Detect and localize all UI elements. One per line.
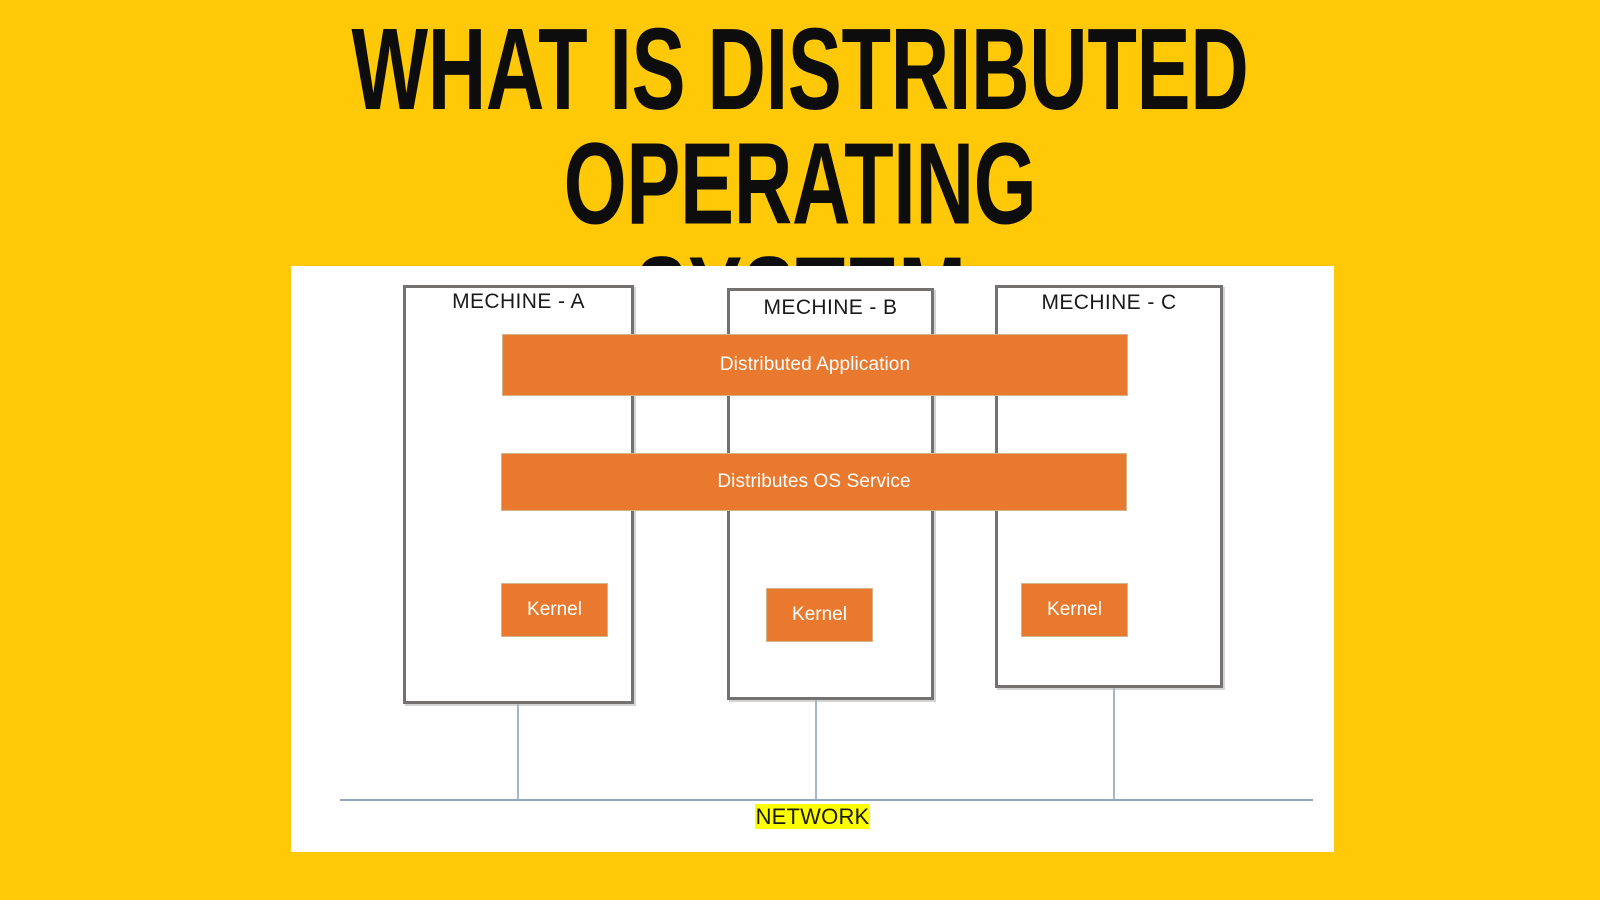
network-bus-line (340, 799, 1313, 801)
machine-label-a: MECHINE - A (403, 290, 634, 314)
layer-bar-distributed-application[interactable]: Distributed Application (502, 334, 1128, 396)
network-label: NETWORK (291, 804, 1334, 830)
network-connector-a (517, 704, 519, 800)
slide-root: What Is Distributed Operating System MEC… (0, 0, 1600, 900)
machine-label-c: MECHINE - C (995, 291, 1223, 315)
network-connector-c (1113, 688, 1115, 800)
layer-bar-distributed-os-service[interactable]: Distributes OS Service (501, 453, 1127, 511)
diagram-canvas: MECHINE - A MECHINE - B MECHINE - C Dist… (291, 266, 1334, 852)
kernel-box-b[interactable]: Kernel (766, 588, 873, 642)
machine-label-b: MECHINE - B (727, 296, 934, 320)
kernel-box-c[interactable]: Kernel (1021, 583, 1128, 637)
network-label-text: NETWORK (755, 804, 871, 829)
network-connector-b (815, 700, 817, 800)
kernel-box-a[interactable]: Kernel (501, 583, 608, 637)
